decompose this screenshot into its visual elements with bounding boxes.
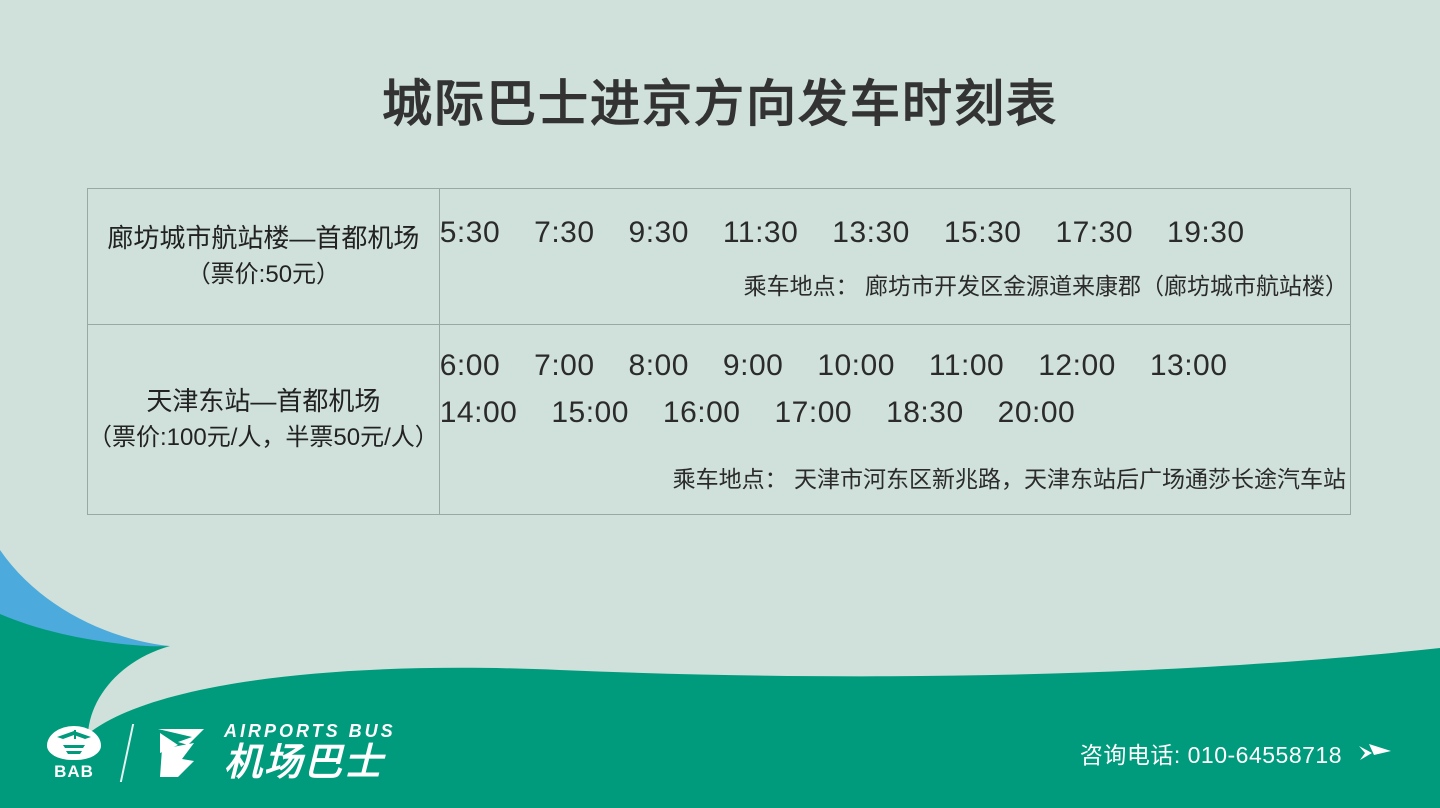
departure-time: 15:30 — [944, 212, 1022, 255]
departure-time: 19:30 — [1167, 212, 1245, 255]
departure-time: 15:00 — [551, 392, 629, 435]
brand-name-en: AIRPORTS BUS — [224, 722, 396, 740]
airports-bus-mark-icon — [148, 725, 210, 781]
brand-lockup: BAB AIRPORTS BUS 机场巴士 — [44, 722, 396, 784]
table-row: 天津东站—首都机场 （票价:100元/人，半票50元/人） 6:00 7:00 … — [88, 325, 1351, 515]
brand-divider — [120, 724, 134, 782]
departure-time: 11:30 — [723, 212, 798, 255]
departure-time: 14:00 — [440, 392, 518, 435]
contact-phone: 咨询电话: 010-64558718 — [1080, 736, 1342, 770]
brand-name-cn: 机场巴士 — [224, 744, 396, 784]
blue-swoosh-shape — [0, 550, 170, 648]
departure-time: 17:30 — [1055, 212, 1133, 255]
departure-time: 7:30 — [534, 212, 594, 255]
bus-timetable: 廊坊城市航站楼—首都机场 （票价:50元） 5:30 7:30 9:30 11:… — [87, 188, 1351, 515]
contact-block: 咨询电话: 010-64558718 — [1080, 736, 1392, 770]
departure-time: 10:00 — [817, 345, 895, 388]
boarding-location: 乘车地点： 天津市河东区新兆路，天津东站后广场通莎长途汽车站 — [440, 460, 1350, 494]
bab-logo: BAB — [44, 726, 104, 780]
departure-time: 7:00 — [534, 345, 594, 388]
departure-time: 20:00 — [998, 392, 1076, 435]
departure-time: 6:00 — [440, 345, 500, 388]
route-fare: （票价:50元） — [88, 258, 439, 293]
route-name: 廊坊城市航站楼—首都机场 — [88, 220, 439, 258]
departure-time: 16:00 — [663, 392, 741, 435]
departure-time: 17:00 — [774, 392, 852, 435]
route-cell: 廊坊城市航站楼—首都机场 （票价:50元） — [88, 189, 440, 325]
departure-time: 18:30 — [886, 392, 964, 435]
departure-time: 8:00 — [629, 345, 689, 388]
route-name: 天津东站—首都机场 — [88, 383, 439, 421]
departure-time: 12:00 — [1038, 345, 1116, 388]
departure-time: 13:30 — [832, 212, 910, 255]
route-fare: （票价:100元/人，半票50元/人） — [88, 421, 439, 456]
schedule-cell: 6:00 7:00 8:00 9:00 10:00 11:00 12:00 13… — [439, 325, 1350, 515]
brand-wordmark: AIRPORTS BUS 机场巴士 — [224, 722, 396, 784]
departure-time: 13:00 — [1150, 345, 1228, 388]
departure-times-line: 5:30 7:30 9:30 11:30 13:30 15:30 17:30 1… — [440, 212, 1350, 255]
departure-times-line: 6:00 7:00 8:00 9:00 10:00 11:00 12:00 13… — [440, 345, 1350, 388]
route-cell: 天津东站—首都机场 （票价:100元/人，半票50元/人） — [88, 325, 440, 515]
schedule-cell: 5:30 7:30 9:30 11:30 13:30 15:30 17:30 1… — [439, 189, 1350, 325]
bab-label: BAB — [54, 763, 94, 780]
departure-time: 9:00 — [723, 345, 783, 388]
departure-time: 9:30 — [629, 212, 689, 255]
table-row: 廊坊城市航站楼—首都机场 （票价:50元） 5:30 7:30 9:30 11:… — [88, 189, 1351, 325]
airplane-icon — [1358, 742, 1392, 764]
boarding-location: 乘车地点： 廊坊市开发区金源道来康郡（廊坊城市航站楼） — [440, 267, 1350, 301]
footer-bar: BAB AIRPORTS BUS 机场巴士 咨询电话: 010-64558718 — [0, 698, 1440, 808]
departure-time: 5:30 — [440, 212, 500, 255]
bab-emblem-icon — [47, 726, 101, 760]
departure-time: 11:00 — [929, 345, 1004, 388]
page-title: 城际巴士进京方向发车时刻表 — [0, 76, 1440, 134]
departure-times-line: 14:00 15:00 16:00 17:00 18:30 20:00 — [440, 392, 1350, 435]
